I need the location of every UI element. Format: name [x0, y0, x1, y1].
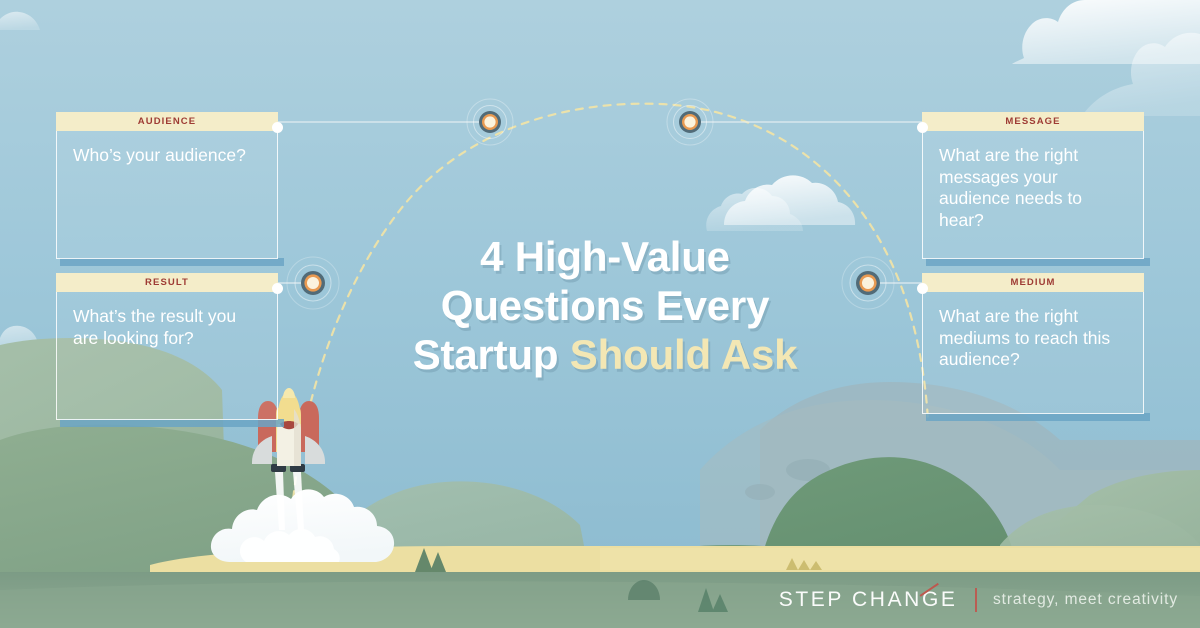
card-shadow — [60, 419, 284, 427]
headline-line-3: Startup Should Ask — [330, 330, 880, 379]
footer-brand: STEP CHANGE strategy, meet creativity — [779, 588, 1178, 612]
headline-line-3-accent: Should Ask — [570, 331, 797, 378]
infographic-canvas: AUDIENCE Who’s your audience? RESULT Wha… — [0, 0, 1200, 628]
card-audience-question: Who’s your audience? — [73, 145, 261, 167]
card-medium-body: What are the right mediums to reach this… — [922, 292, 1144, 414]
logo-wordmark: STEP CHANGE — [779, 588, 958, 612]
sand-strip-right — [600, 548, 1200, 570]
headline-line-2: Questions Every — [330, 281, 880, 330]
headline-line-1: 4 High-Value — [330, 232, 880, 281]
card-medium[interactable]: MEDIUM What are the right mediums to rea… — [922, 273, 1144, 414]
card-audience-body: Who’s your audience? — [56, 131, 278, 259]
card-shadow — [926, 413, 1150, 421]
node-audience[interactable] — [467, 99, 513, 145]
card-result-body: What’s the result you are looking for? — [56, 292, 278, 420]
hill-speckle-2 — [745, 484, 775, 500]
card-message-question: What are the right messages your audienc… — [939, 145, 1127, 231]
card-result-connector-dot — [272, 283, 283, 294]
card-message-connector-dot — [917, 122, 928, 133]
card-message-body: What are the right messages your audienc… — [922, 131, 1144, 259]
card-result-question: What’s the result you are looking for? — [73, 306, 261, 349]
card-medium-connector-dot — [917, 283, 928, 294]
logo-divider — [975, 588, 977, 612]
card-medium-label: MEDIUM — [922, 273, 1144, 292]
card-audience[interactable]: AUDIENCE Who’s your audience? — [56, 112, 278, 259]
card-shadow — [60, 258, 284, 266]
headline-line-3-plain: Startup — [413, 331, 570, 378]
card-audience-label: AUDIENCE — [56, 112, 278, 131]
card-result-label: RESULT — [56, 273, 278, 292]
card-message[interactable]: MESSAGE What are the right messages your… — [922, 112, 1144, 259]
card-audience-connector-dot — [272, 122, 283, 133]
headline: 4 High-Value Questions Every Startup Sho… — [330, 232, 880, 379]
card-message-label: MESSAGE — [922, 112, 1144, 131]
tagline: strategy, meet creativity — [993, 591, 1178, 609]
node-message[interactable] — [667, 99, 713, 145]
card-medium-question: What are the right mediums to reach this… — [939, 306, 1127, 371]
card-result[interactable]: RESULT What’s the result you are looking… — [56, 273, 278, 420]
logo-text: STEP CHANGE — [779, 588, 958, 611]
card-shadow — [926, 258, 1150, 266]
